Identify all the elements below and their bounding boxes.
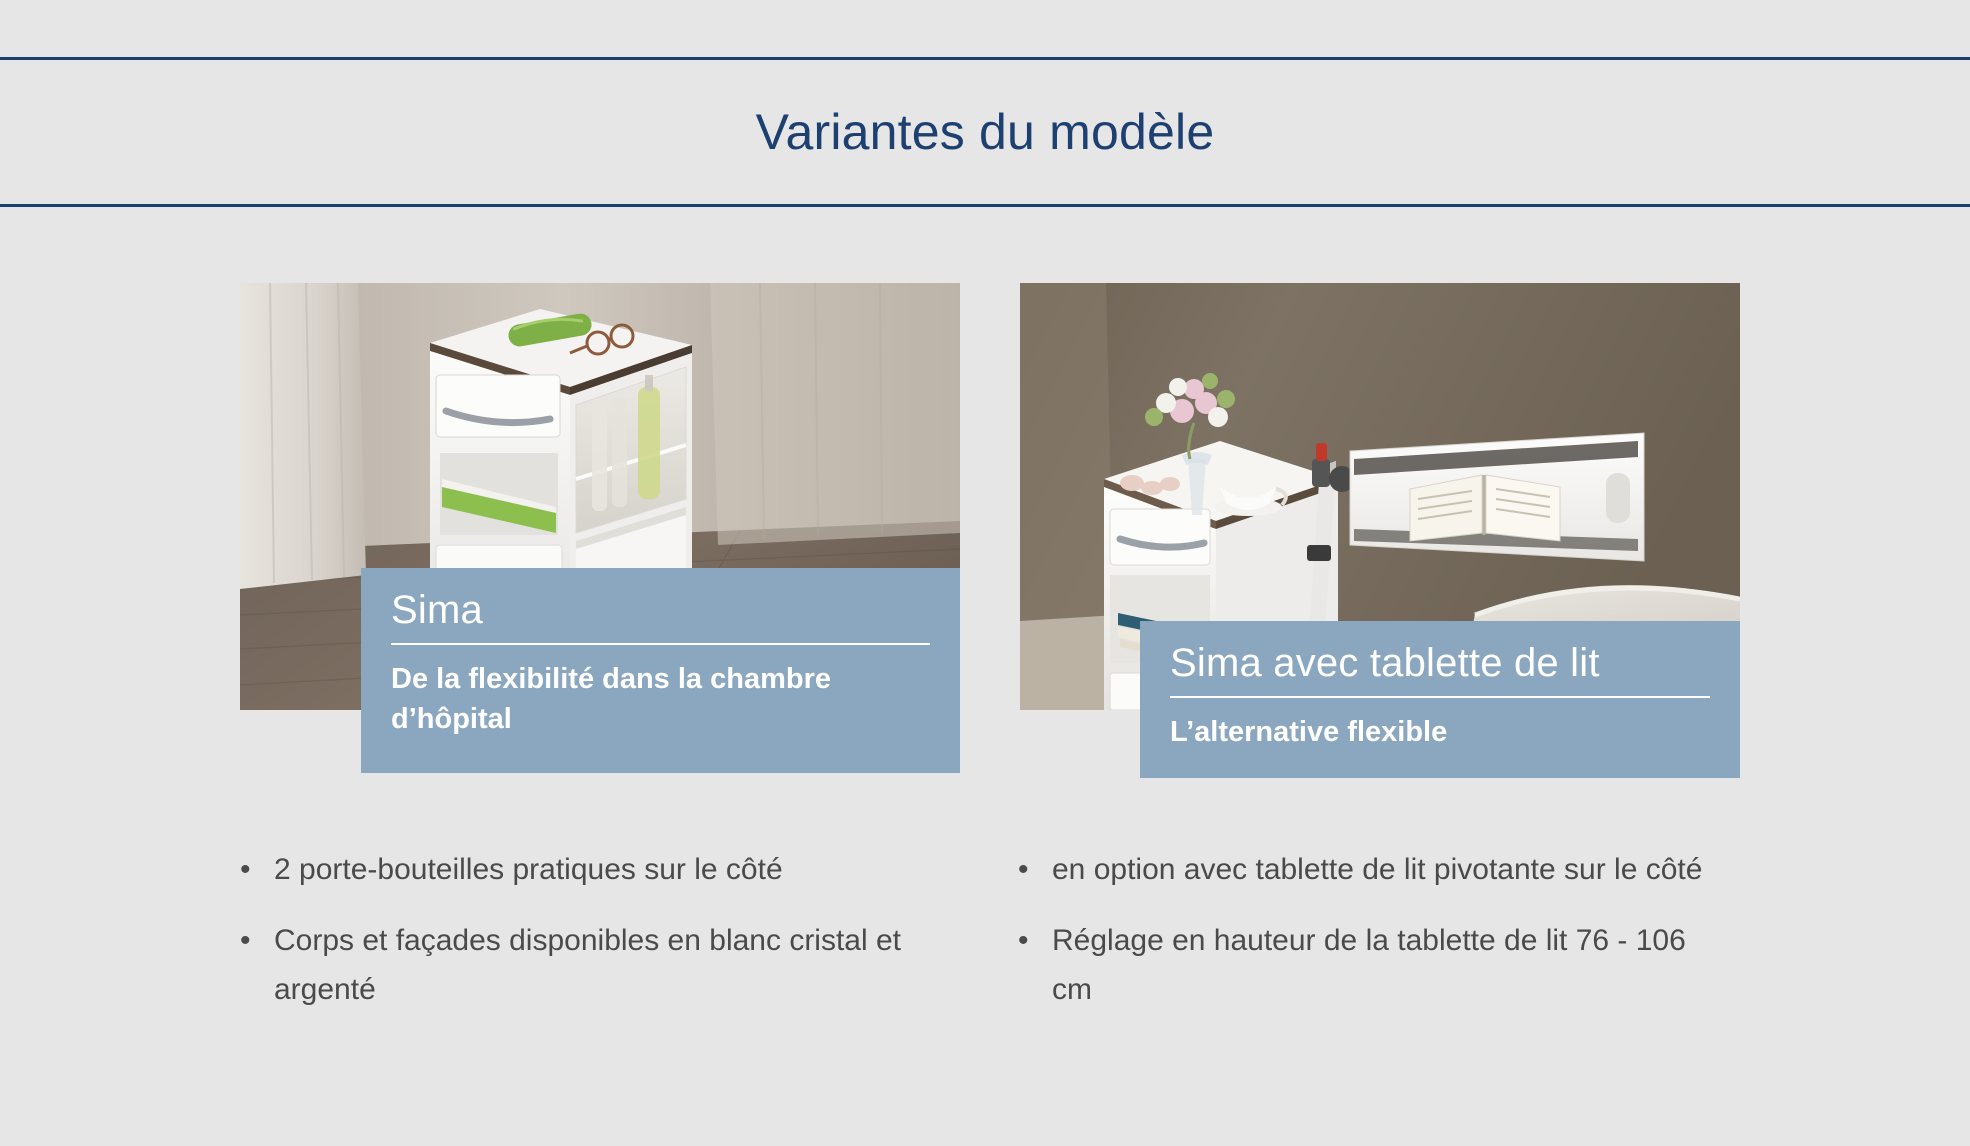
feature-list-sima-tablette: • en option avec tablette de lit pivotan… [1018, 845, 1718, 1036]
feature-list-sima: • 2 porte-bouteilles pratiques sur le cô… [240, 845, 940, 1036]
list-item-text: Réglage en hauteur de la tablette de lit… [1052, 916, 1718, 1014]
list-item-text: 2 porte-bouteilles pratiques sur le côté [274, 845, 940, 894]
caption-divider [1170, 696, 1710, 698]
list-item-text: Corps et façades disponibles en blanc cr… [274, 916, 940, 1014]
list-item-text: en option avec tablette de lit pivotante… [1052, 845, 1718, 894]
list-item: • Réglage en hauteur de la tablette de l… [1018, 916, 1718, 1014]
variant-cards-row: Sima De la flexibilité dans la chambre d… [0, 283, 1970, 843]
bullet-icon: • [1018, 845, 1052, 894]
list-item: • 2 porte-bouteilles pratiques sur le cô… [240, 845, 940, 894]
caption-divider [391, 643, 930, 645]
caption-overlay-sima-tablette: Sima avec tablette de lit L’alternative … [1140, 621, 1740, 778]
caption-subtitle: L’alternative flexible [1170, 712, 1710, 752]
caption-title: Sima [391, 588, 930, 641]
page-header: Variantes du modèle [0, 57, 1970, 207]
caption-subtitle: De la flexibilité dans la chambre d’hôpi… [391, 659, 930, 739]
caption-title: Sima avec tablette de lit [1170, 641, 1710, 694]
page-title: Variantes du modèle [756, 107, 1215, 157]
bullet-icon: • [240, 845, 274, 894]
bullet-icon: • [240, 916, 274, 965]
list-item: • Corps et façades disponibles en blanc … [240, 916, 940, 1014]
bullet-icon: • [1018, 916, 1052, 965]
caption-overlay-sima: Sima De la flexibilité dans la chambre d… [361, 568, 960, 773]
list-item: • en option avec tablette de lit pivotan… [1018, 845, 1718, 894]
